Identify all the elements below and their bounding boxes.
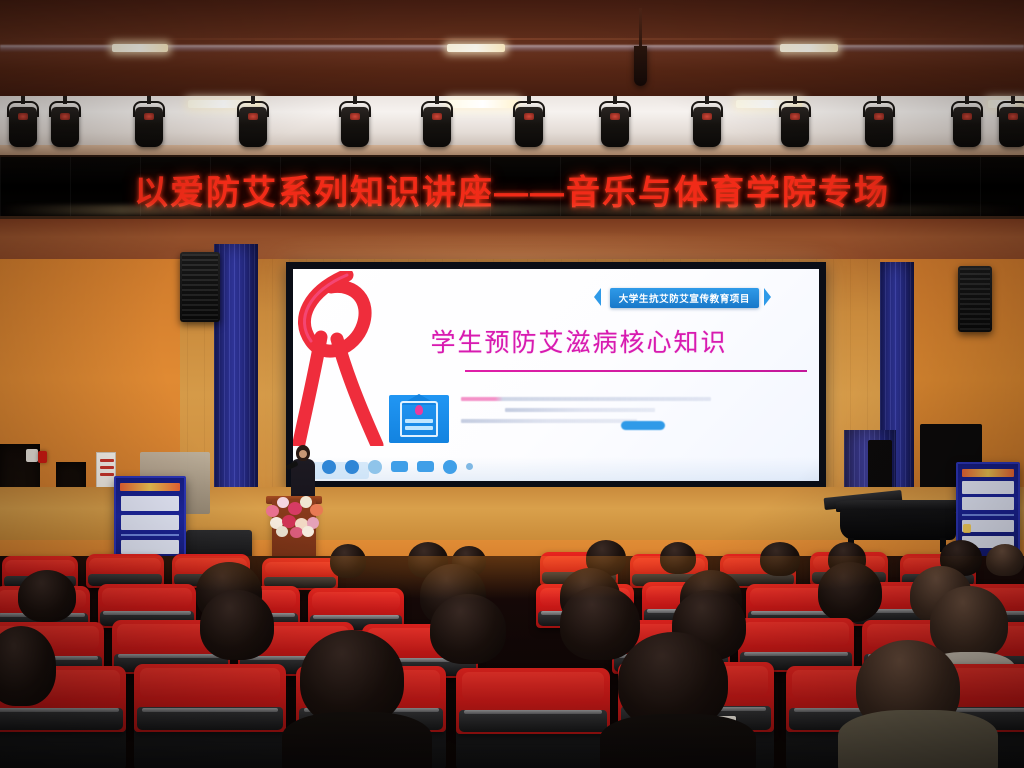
- stage-spotlight-icon: [236, 101, 270, 151]
- stage-spotlight-icon: [950, 101, 984, 151]
- stage-spotlight-icon: [132, 101, 166, 151]
- stage-spotlight-icon: [690, 101, 724, 151]
- truss-led-icon: [448, 100, 518, 108]
- stage-spotlight-icon: [48, 101, 82, 151]
- audience-head: [818, 562, 882, 622]
- stage-spotlight-icon: [996, 101, 1024, 151]
- stage-spotlight-icon: [598, 101, 632, 151]
- alarm-housing-icon: [26, 449, 38, 462]
- stage-spotlight-icon: [420, 101, 454, 151]
- ceiling: [0, 0, 1024, 96]
- fire-alarm-icon: [38, 451, 47, 463]
- audience-head: [760, 542, 800, 576]
- pointer-icon[interactable]: [322, 460, 336, 474]
- audience-seating-area: 8: [0, 556, 1024, 768]
- auditorium-photo: 以爱防艾系列知识讲座——音乐与体育学院专场: [0, 0, 1024, 768]
- ceiling-seam: [0, 38, 1024, 40]
- stage-spotlight-icon: [512, 101, 546, 151]
- ceiling-lamp-icon: [447, 44, 505, 52]
- line-array-speaker-right: [958, 266, 992, 332]
- presentation-toolbar[interactable]: [315, 457, 480, 476]
- hanging-fixture-icon: [634, 46, 647, 86]
- slide-body-text-block: [461, 397, 711, 430]
- audience-head: [930, 586, 1008, 660]
- stage-spotlight-icon: [338, 101, 372, 151]
- collapse-chevron-icon[interactable]: [466, 463, 473, 470]
- prevention-logo-icon: [389, 395, 449, 443]
- line-array-speaker-left: [180, 252, 220, 322]
- spotlight-icon[interactable]: [368, 460, 382, 474]
- stage-spotlight-icon: [778, 101, 812, 151]
- upper-wall-band: [0, 219, 1024, 259]
- floral-arrangement: [262, 493, 328, 539]
- slide-project-badge: 大学生抗艾防艾宣传教育项目: [610, 288, 759, 308]
- seat[interactable]: [86, 554, 164, 588]
- audience-head: [18, 570, 76, 622]
- audience-head: [330, 544, 366, 578]
- audience-head: [560, 586, 640, 660]
- ceiling-lamp-icon: [780, 44, 838, 52]
- led-banner: 以爱防艾系列知识讲座——音乐与体育学院专场: [0, 155, 1024, 219]
- more-options-icon[interactable]: [443, 460, 457, 474]
- audience-shoulders-jacket: [838, 710, 998, 768]
- led-banner-glow: [0, 205, 1024, 215]
- ceiling-hanger-rod: [639, 8, 642, 50]
- projection-screen-frame: 大学生抗艾防艾宣传教育项目 学生预防艾滋病核心知识: [286, 262, 826, 488]
- slide-divider-rule: [465, 370, 807, 372]
- seat[interactable]: [134, 664, 286, 732]
- audience-head: [200, 590, 274, 660]
- stage-spotlight-icon: [862, 101, 896, 151]
- badge-caret-left-icon: [594, 288, 601, 306]
- audience-head: [660, 542, 696, 574]
- slide-inline-pill-icon: [621, 421, 665, 430]
- badge-caret-right-icon: [764, 288, 771, 306]
- audience-shoulders: [600, 714, 756, 768]
- ceiling-lamp-icon: [112, 44, 168, 52]
- slide-title: 学生预防艾滋病核心知识: [293, 323, 819, 359]
- pen-icon[interactable]: [345, 460, 359, 474]
- slide-thumbnail-icon[interactable]: [417, 461, 434, 472]
- audience-shoulders: [282, 712, 432, 768]
- stage-spotlight-icon: [6, 101, 40, 151]
- seat[interactable]: [456, 668, 610, 734]
- audience-head: [986, 544, 1024, 576]
- audience-head: [430, 594, 506, 664]
- projection-screen[interactable]: 大学生抗艾防艾宣传教育项目 学生预防艾滋病核心知识: [293, 269, 819, 481]
- eraser-icon[interactable]: [391, 461, 408, 472]
